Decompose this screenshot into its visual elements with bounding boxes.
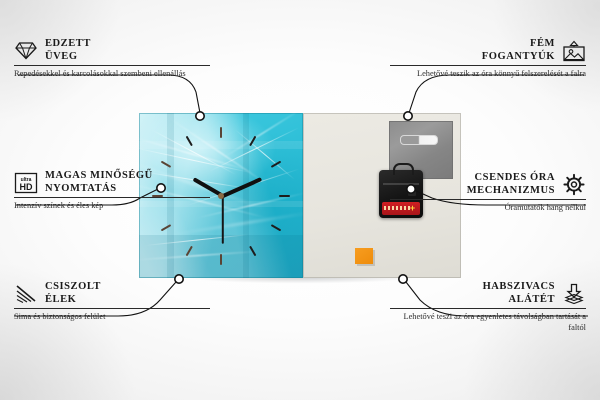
feature-title-line1: MAGAS MINŐSÉGŰ [45, 170, 153, 183]
feature-description: Lehetővé teszik az óra könnyű felszerelé… [390, 69, 586, 80]
feature-divider [390, 308, 586, 309]
feature-title-line1: CSENDES ÓRA [467, 172, 555, 185]
feature-polished-edges: CSISZOLT ÉLEK Sima és biztonságos felüle… [14, 281, 210, 323]
feature-description: Lehetővé teszi az óra egyenletes távolsá… [390, 312, 586, 333]
feature-title-line2: NYOMTATÁS [45, 183, 153, 196]
ultra-hd-icon: ultra HD [14, 172, 38, 194]
feature-metal-hangers: FÉM FOGANTYÚK Lehetővé teszik az óra kön… [390, 38, 586, 80]
clock-minute-hand [220, 177, 262, 199]
feature-description: Óramutatók hang nélkül [390, 203, 586, 214]
feature-title-line2: ÜVEG [45, 51, 91, 64]
feature-divider [390, 199, 586, 200]
feature-title-line2: ALÁTÉT [483, 294, 555, 307]
infographic-canvas: + [0, 0, 600, 400]
clock-center-cap [218, 193, 224, 199]
feature-divider [14, 308, 210, 309]
feature-divider [390, 65, 586, 66]
feature-title-line2: ÉLEK [45, 294, 101, 307]
feature-description: Sima és biztonságos felület [14, 312, 210, 323]
hanger-slot [400, 135, 438, 145]
feature-title-line2: MECHANIZMUS [467, 185, 555, 198]
svg-text:HD: HD [20, 182, 33, 192]
feature-description: Intenzív színek és éles kép [14, 201, 210, 212]
feature-foam-pad: HABSZIVACS ALÁTÉT Lehetővé teszi az óra … [390, 281, 586, 333]
feature-title-line2: FOGANTYÚK [482, 51, 555, 64]
feature-divider [14, 197, 210, 198]
feature-divider [14, 65, 210, 66]
connector-path-tempered-glass [18, 75, 200, 113]
foam-pad [355, 248, 373, 264]
feature-title-line1: EDZETT [45, 38, 91, 51]
feature-description: Repedésekkel és karcolásokkal szembeni e… [14, 69, 210, 80]
feature-silent-mechanism: CSENDES ÓRA MECHANIZMUS Óramutatók hang … [390, 172, 586, 214]
clock-second-hand [222, 194, 224, 244]
polished-edges-icon [14, 283, 38, 305]
feature-tempered-glass: EDZETT ÜVEG Repedésekkel és karcolásokka… [14, 38, 210, 80]
diamond-icon [14, 40, 38, 62]
foam-pad-icon [562, 283, 586, 305]
connector-path-metal-hangers [409, 75, 584, 113]
feature-hd-print: ultra HD MAGAS MINŐSÉGŰ NYOMTATÁS Intenz… [14, 170, 210, 212]
feature-title-line1: CSISZOLT [45, 281, 101, 294]
feature-title-line1: HABSZIVACS [483, 281, 555, 294]
picture-hanger-icon [562, 40, 586, 62]
gear-icon [562, 174, 586, 196]
feature-title-line1: FÉM [482, 38, 555, 51]
